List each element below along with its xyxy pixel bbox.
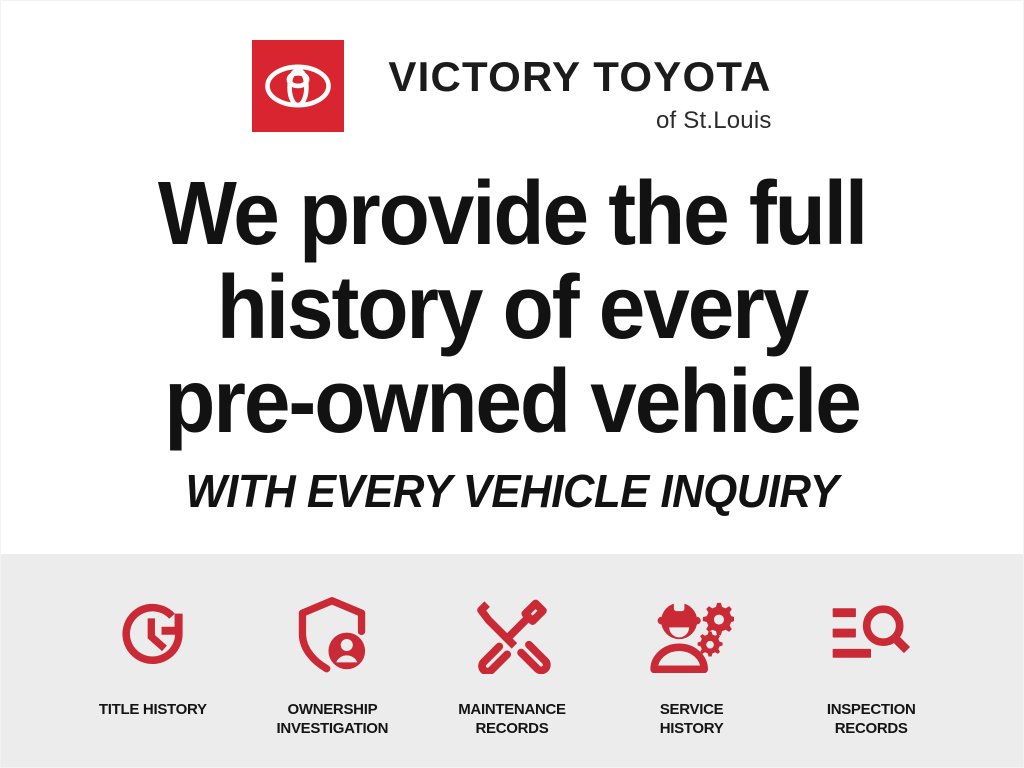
feature-maintenance-records: MAINTENANCE RECORDS [422,596,602,738]
hammer-screwdriver-icon [472,596,552,674]
feature-label: OWNERSHIP INVESTIGATION [277,700,389,738]
promo-slide: VICTORY TOYOTA of St.Louis We provide th… [0,0,1024,768]
headline-line-2: history of every [37,261,987,355]
headline-block: We provide the full history of every pre… [1,167,1023,517]
headline-line-1: We provide the full [37,167,987,261]
headline-line-3: pre-owned vehicle [37,355,987,449]
toyota-emblem-icon [252,40,344,132]
feature-inspection-records: INSPECTION RECORDS [781,596,961,738]
feature-label: SERVICE HISTORY [660,700,724,738]
brand-name: VICTORY TOYOTA [388,56,771,98]
worker-gears-icon [650,596,734,674]
feature-ownership-investigation: OWNERSHIP INVESTIGATION [243,596,423,738]
feature-title-history: TITLE HISTORY [63,596,243,719]
feature-label: TITLE HISTORY [99,700,207,719]
feature-service-history: SERVICE HISTORY [602,596,782,738]
feature-label: MAINTENANCE RECORDS [458,700,566,738]
list-magnifier-icon [830,596,912,674]
brand-lockup: VICTORY TOYOTA of St.Louis [1,40,1023,133]
feature-band: TITLE HISTORY OWNERSHIP INVESTIGATION [1,554,1023,767]
brand-subtitle: of St.Louis [656,109,772,133]
shield-person-icon [294,596,370,674]
hero-section: VICTORY TOYOTA of St.Louis We provide th… [1,1,1023,554]
clock-history-icon [114,596,192,674]
headline-subhead: WITH EVERY VEHICLE INQUIRY [27,465,998,517]
feature-label: INSPECTION RECORDS [827,700,916,738]
